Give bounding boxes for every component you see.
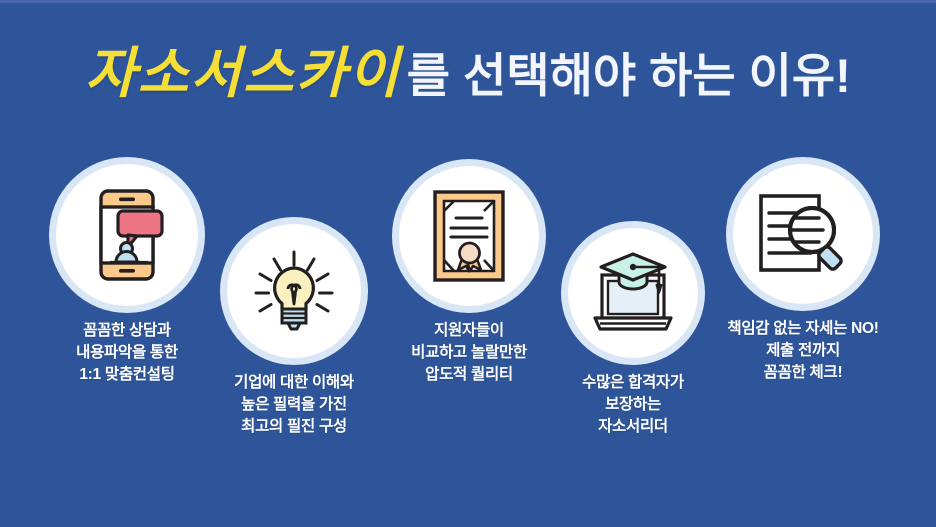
feature-circle-4	[568, 228, 698, 358]
caption-line: 지원자들이	[376, 320, 562, 342]
caption-line: 자소서리더	[548, 416, 718, 438]
promo-banner: 자소서스카이를 선택해야 하는 이유!	[0, 0, 936, 527]
caption-line: 압도적 퀄리티	[376, 364, 562, 386]
feature-caption-2: 기업에 대한 이해와 높은 필력을 가진 최고의 필진 구성	[208, 372, 380, 438]
smartphone-chat-icon	[88, 189, 166, 281]
feature-item-1: 꼼꼼한 상담과 내용파악을 통한 1:1 맞춤컨설팅	[32, 164, 222, 386]
feature-circle-1	[56, 164, 198, 306]
feature-item-3: 지원자들이 비교하고 놀랄만한 압도적 퀄리티	[376, 166, 562, 386]
title-brand-text: 자소서스카이	[85, 42, 401, 104]
feature-caption-5: 책임감 없는 자세는 NO! 제출 전까지 꼼꼼한 체크!	[708, 318, 898, 384]
caption-line: 내용파악을 통한	[32, 342, 222, 364]
caption-line: 1:1 맞춤컨설팅	[32, 364, 222, 386]
feature-circle-2	[227, 224, 361, 358]
feature-circle-5	[733, 164, 873, 304]
feature-caption-1: 꼼꼼한 상담과 내용파악을 통한 1:1 맞춤컨설팅	[32, 320, 222, 386]
laptop-graduation-cap-icon	[587, 252, 679, 334]
feature-caption-3: 지원자들이 비교하고 놀랄만한 압도적 퀄리티	[376, 320, 562, 386]
document-magnifier-icon	[757, 190, 849, 278]
certificate-icon	[433, 190, 505, 282]
caption-line: 최고의 필진 구성	[208, 416, 380, 438]
caption-line: 제출 전까지	[708, 340, 898, 362]
feature-circle-3	[399, 166, 539, 306]
caption-line: 기업에 대한 이해와	[208, 372, 380, 394]
feature-item-4: 수많은 합격자가 보장하는 자소서리더	[548, 228, 718, 438]
feature-item-2: 기업에 대한 이해와 높은 필력을 가진 최고의 필진 구성	[208, 224, 380, 438]
caption-line: 책임감 없는 자세는 NO!	[708, 318, 898, 340]
feature-item-5: 책임감 없는 자세는 NO! 제출 전까지 꼼꼼한 체크!	[708, 164, 898, 384]
caption-line: 높은 필력을 가진	[208, 394, 380, 416]
top-edge-strip	[0, 0, 936, 3]
caption-line: 꼼꼼한 상담과	[32, 320, 222, 342]
page-title: 자소서스카이를 선택해야 하는 이유!	[0, 46, 936, 101]
feature-caption-4: 수많은 합격자가 보장하는 자소서리더	[548, 372, 718, 438]
caption-line: 보장하는	[548, 394, 718, 416]
caption-line: 수많은 합격자가	[548, 372, 718, 394]
lightbulb-icon	[251, 248, 337, 334]
caption-line: 비교하고 놀랄만한	[376, 342, 562, 364]
title-rest-text: 를 선택해야 하는 이유!	[407, 49, 851, 102]
caption-line: 꼼꼼한 체크!	[708, 362, 898, 384]
